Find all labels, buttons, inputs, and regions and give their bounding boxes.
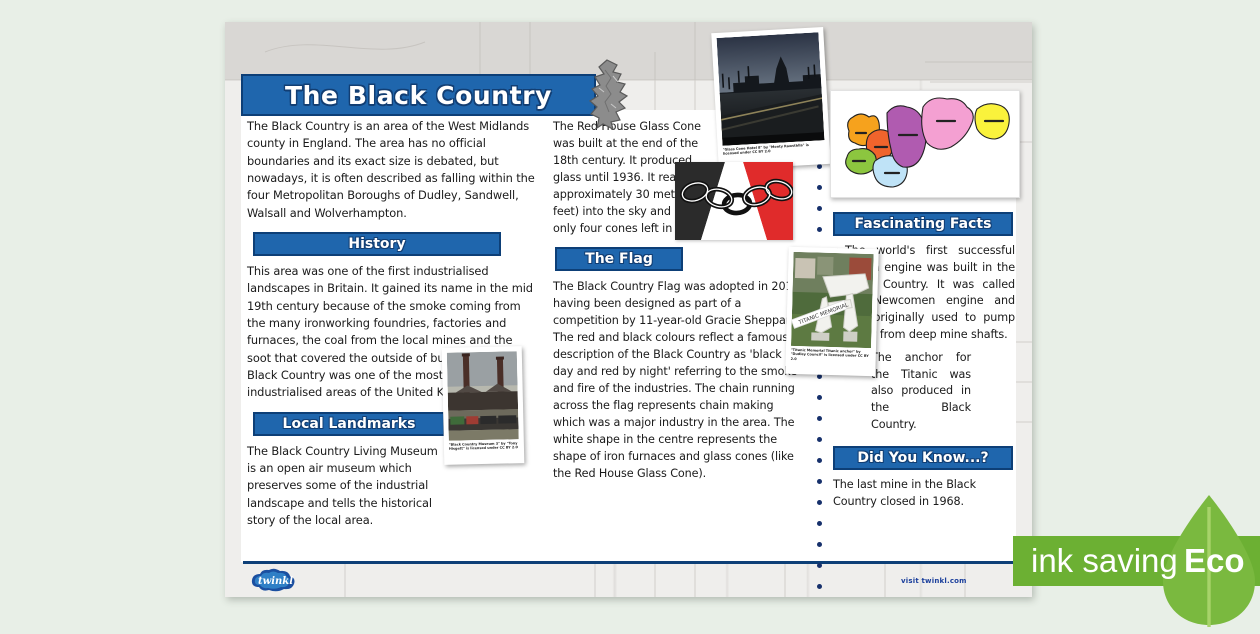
divider-dot — [817, 395, 822, 400]
divider-dot — [817, 521, 822, 526]
eco-badge-text-ink-saving: ink saving — [1031, 536, 1178, 586]
visit-twinkl-link[interactable]: visit twinkl.com — [901, 577, 967, 585]
divider-dot — [817, 500, 822, 505]
column-left: The Black Country is an area of the West… — [247, 118, 539, 529]
footer-divider — [243, 561, 1015, 564]
flag-paragraph: The Black Country Flag was adopted in 20… — [553, 278, 803, 482]
photo-black-country-museum: "Black Country Museum 3" by "Tony Hisget… — [442, 346, 525, 465]
map-icon — [831, 91, 1020, 198]
facts-heading-text: Fascinating Facts — [855, 216, 992, 232]
page-title: The Black Country — [285, 81, 552, 110]
intro-paragraph: The Black Country is an area of the West… — [247, 118, 539, 222]
divider-dot — [817, 542, 822, 547]
divider-dot — [817, 437, 822, 442]
flag-heading-text: The Flag — [585, 251, 653, 267]
section-heading-local-landmarks: Local Landmarks — [253, 412, 445, 436]
worksheet-page: The Black Country — [225, 22, 1032, 597]
flag-icon — [675, 162, 793, 240]
section-heading-history: History — [253, 232, 501, 256]
section-heading-did-you-know: Did You Know...? — [833, 446, 1013, 470]
twinkl-logo[interactable]: twinkl — [249, 567, 297, 597]
page-title-banner: The Black Country — [241, 74, 596, 116]
divider-dot — [817, 227, 822, 232]
divider-dot — [817, 458, 822, 463]
didyouknow-heading-text: Did You Know...? — [857, 450, 988, 466]
section-heading-fascinating-facts: Fascinating Facts — [833, 212, 1013, 236]
west-midlands-boroughs-map — [830, 90, 1020, 198]
photo-caption: "Titanic Memorial Titanic anchor" by "Du… — [791, 348, 871, 363]
museum-image-icon — [447, 351, 519, 441]
eco-badge-text-eco: Eco — [1184, 536, 1245, 586]
photo-canal-at-dusk: "Glass Cone Hotel 8" by "Monty Rawsthlla… — [711, 27, 830, 170]
photo-caption: "Black Country Museum 3" by "Tony Hisget… — [449, 441, 519, 451]
canal-dusk-image-icon — [717, 32, 825, 146]
divider-dot — [817, 584, 822, 589]
twinkl-cloud-icon: twinkl — [249, 567, 297, 593]
history-heading-text: History — [348, 236, 405, 252]
divider-dot — [817, 479, 822, 484]
divider-dot — [817, 416, 822, 421]
section-heading-the-flag: The Flag — [555, 247, 683, 271]
black-country-flag-image — [675, 162, 793, 240]
divider-dot — [817, 185, 822, 190]
landmarks-heading-text: Local Landmarks — [283, 416, 416, 432]
twinkl-wordmark: twinkl — [258, 576, 293, 587]
coal-rock-icon — [587, 58, 633, 134]
didyouknow-paragraph: The last mine in the Black Country close… — [833, 477, 1015, 511]
list-item: The anchor for the Titanic was also prod… — [859, 350, 971, 434]
landmarks-paragraph: The Black Country Living Museum is an op… — [247, 443, 443, 530]
photo-image: TITANIC MEMORIAL — [791, 252, 874, 348]
photo-image — [447, 351, 519, 441]
photo-image — [717, 32, 825, 146]
divider-dot — [817, 164, 822, 169]
divider-dot — [817, 563, 822, 568]
ink-saving-eco-badge: ink saving Eco — [1013, 493, 1260, 630]
divider-dot — [817, 206, 822, 211]
photo-titanic-anchor-memorial: TITANIC MEMORIAL "Titanic Memorial Titan… — [785, 247, 879, 377]
anchor-monument-image-icon: TITANIC MEMORIAL — [791, 252, 874, 348]
